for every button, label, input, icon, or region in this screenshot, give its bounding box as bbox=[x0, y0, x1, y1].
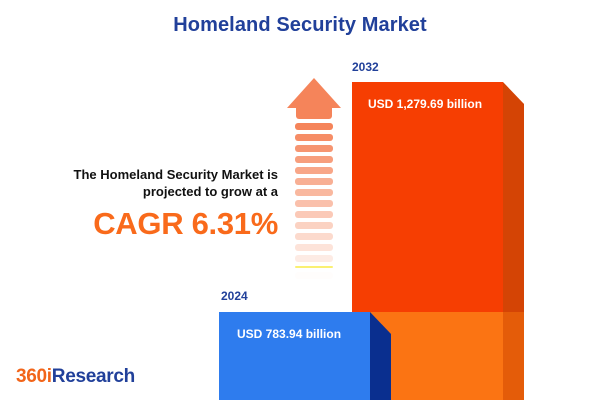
bar-value-2024: USD 783.94 billion bbox=[237, 327, 341, 341]
arrow-stripe bbox=[295, 200, 333, 207]
bar-2032-side-lower-face bbox=[503, 312, 524, 400]
bar-value-2032: USD 1,279.69 billion bbox=[368, 97, 482, 111]
bar-2024-front-face bbox=[219, 312, 370, 400]
cagr-value: CAGR 6.31% bbox=[18, 207, 278, 241]
cagr-statement: The Homeland Security Market is projecte… bbox=[18, 166, 278, 241]
arrow-stripe bbox=[295, 272, 333, 279]
logo-suffix: Research bbox=[52, 366, 135, 387]
bar-label-year-2032: 2032 bbox=[352, 60, 379, 74]
arrow-stripe bbox=[295, 211, 333, 218]
arrow-stripe bbox=[295, 123, 333, 130]
arrow-neck-icon bbox=[296, 107, 332, 119]
arrow-stripe bbox=[295, 189, 333, 196]
logo-prefix: 360i bbox=[16, 366, 52, 387]
arrow-head-icon bbox=[287, 78, 341, 108]
brand-logo[interactable]: 360iResearch bbox=[16, 366, 135, 388]
statement-line-2: projected to grow at a bbox=[18, 183, 278, 200]
arrow-stripe bbox=[295, 255, 333, 262]
arrow-stripe bbox=[295, 156, 333, 163]
page-title: Homeland Security Market bbox=[0, 14, 600, 37]
arrow-stripe bbox=[295, 244, 333, 251]
arrow-stripe bbox=[295, 145, 333, 152]
statement-line-1: The Homeland Security Market is bbox=[18, 166, 278, 183]
arrow-stripe bbox=[295, 266, 333, 268]
arrow-stripe bbox=[295, 178, 333, 185]
infographic-canvas: Homeland Security Market The Homeland Se… bbox=[0, 0, 600, 400]
arrow-stripe bbox=[295, 134, 333, 141]
bar-label-year-2024: 2024 bbox=[221, 289, 248, 303]
bar-2032-front-face bbox=[352, 82, 503, 312]
arrow-stripe bbox=[295, 167, 333, 174]
bar-2032-side-face bbox=[503, 82, 524, 312]
arrow-stripes-icon bbox=[295, 123, 333, 294]
growth-arrow-icon bbox=[287, 78, 341, 294]
arrow-stripe bbox=[295, 222, 333, 229]
arrow-stripe bbox=[295, 233, 333, 240]
